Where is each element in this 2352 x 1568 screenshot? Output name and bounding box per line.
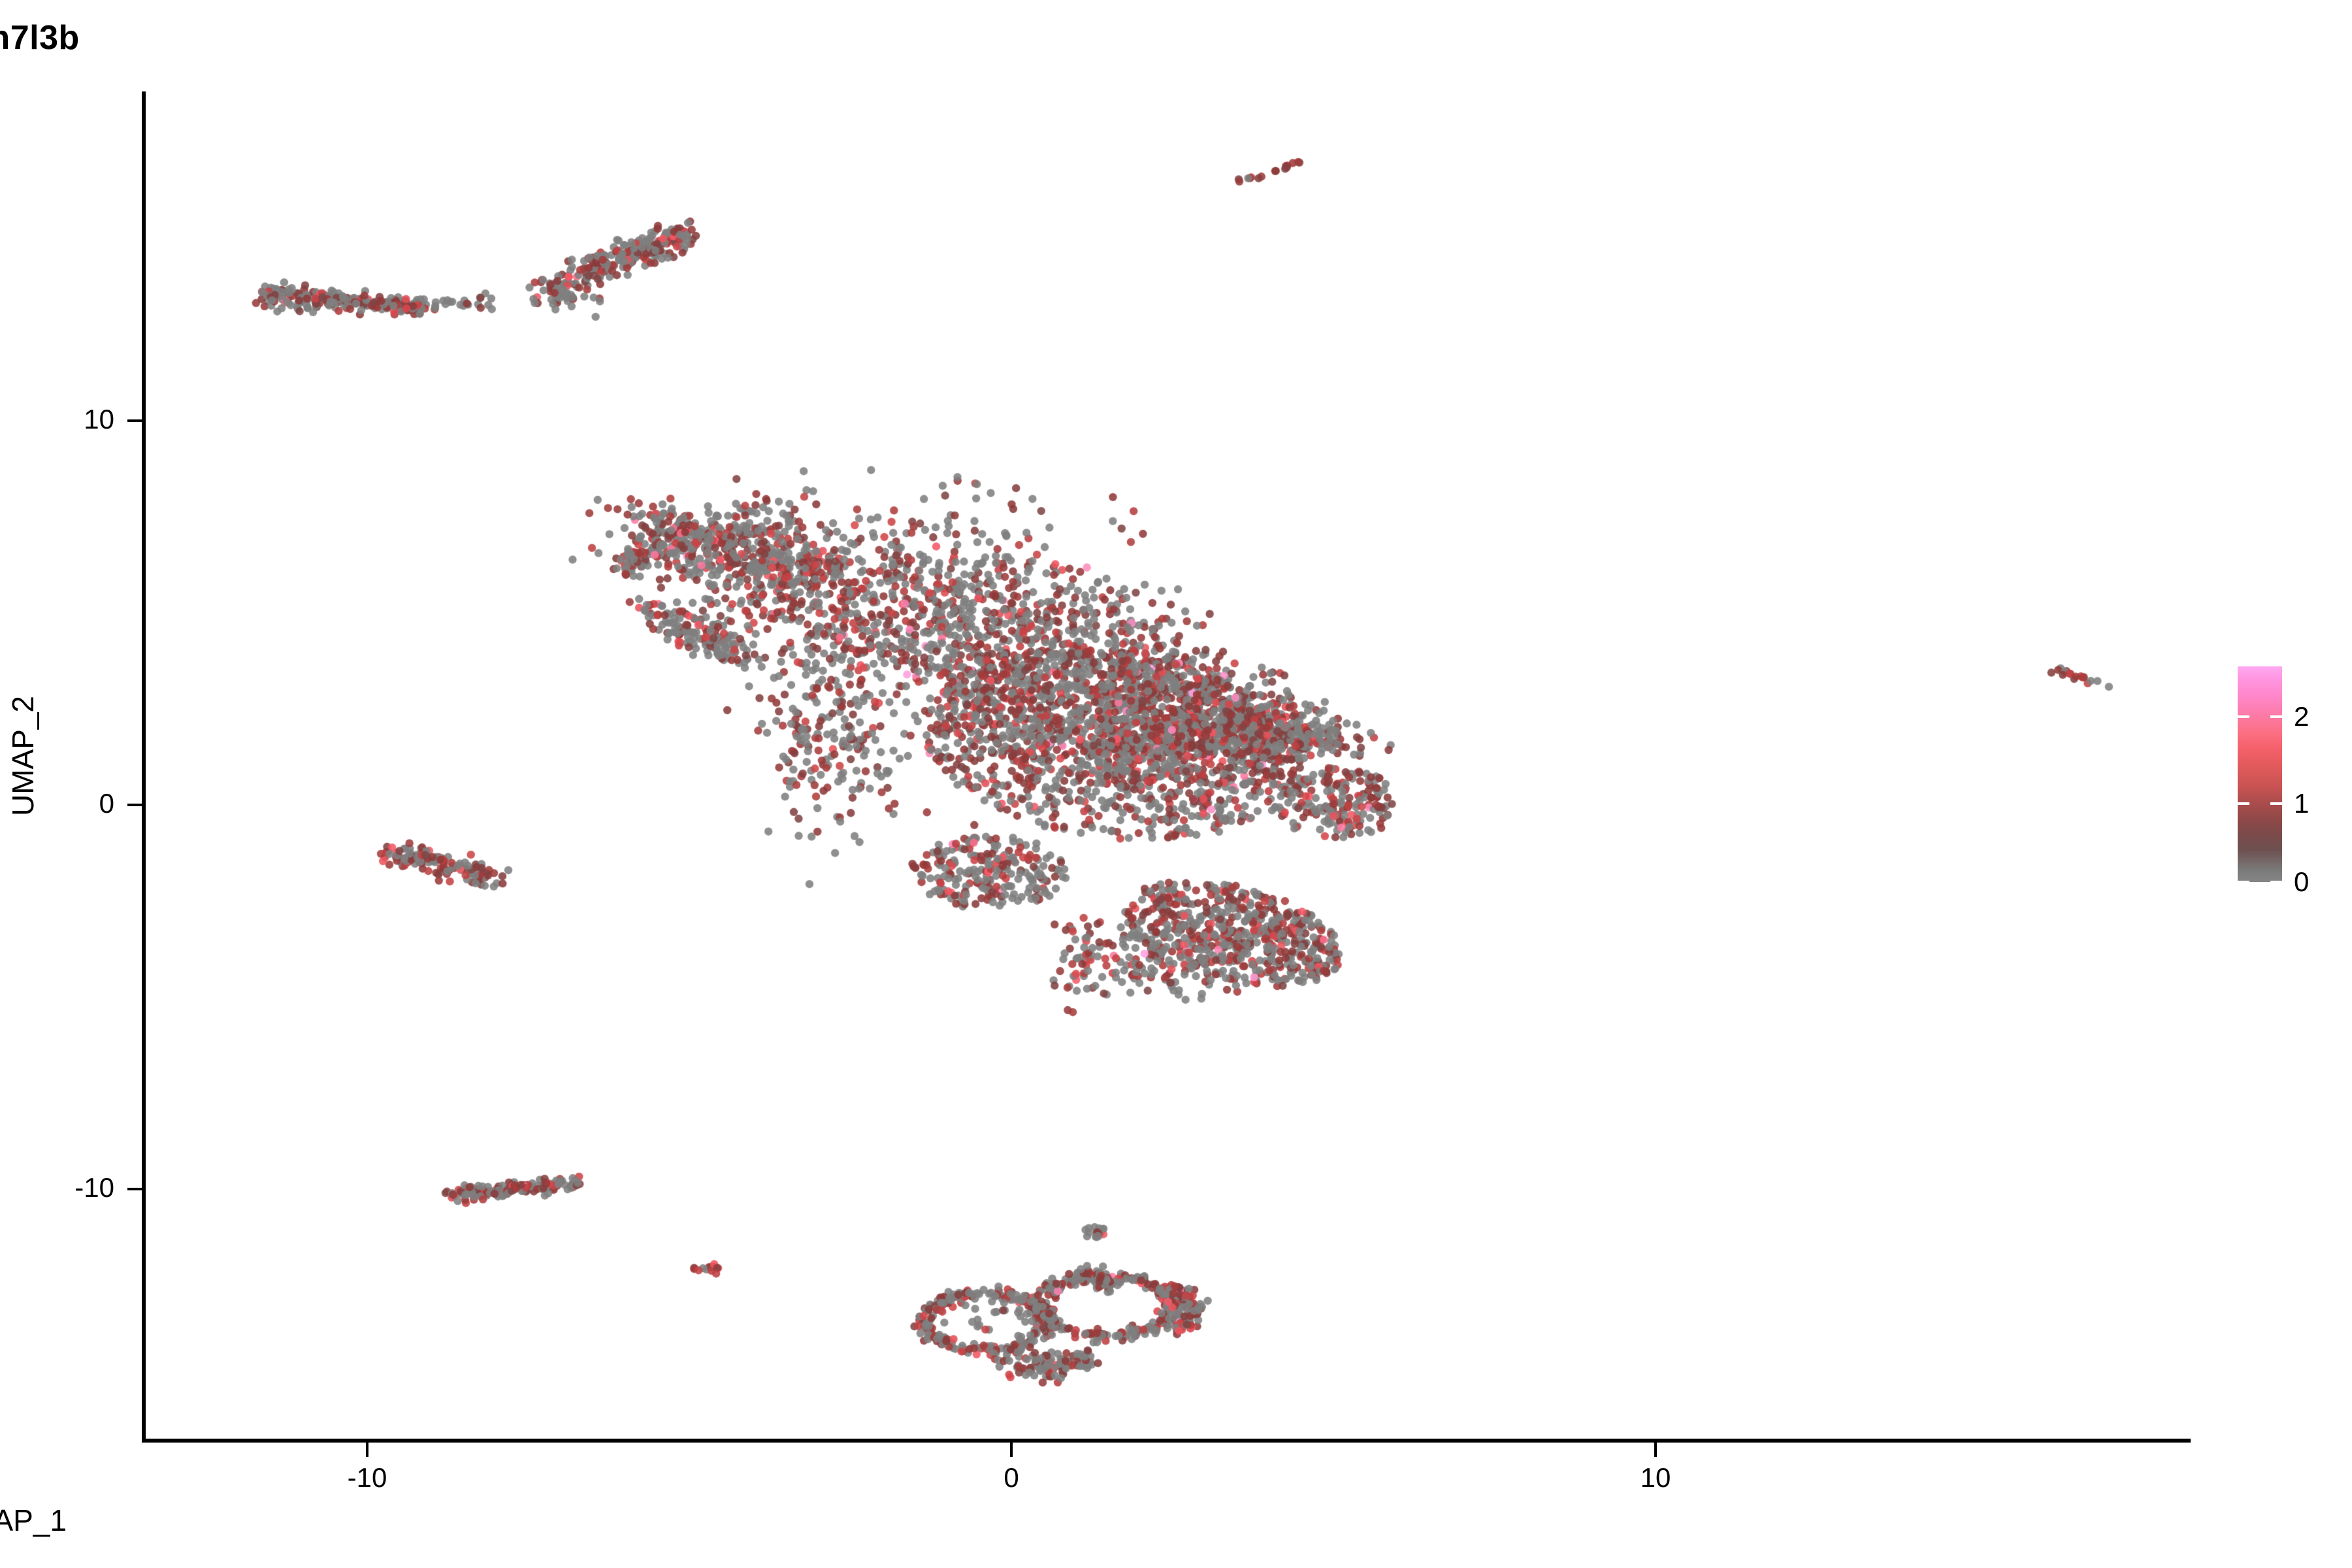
colorbar-tick-2-right bbox=[2270, 715, 2282, 718]
y-tick-mark-2 bbox=[127, 419, 142, 422]
x-tick-label-2: 10 bbox=[1590, 1462, 1721, 1494]
y-tick-mark-0 bbox=[127, 1188, 142, 1190]
x-axis-label: UMAP_1 bbox=[0, 1503, 1183, 1538]
y-axis-label: UMAP_2 bbox=[5, 429, 41, 1083]
x-axis-line bbox=[142, 1439, 2191, 1443]
x-tick-mark-0 bbox=[366, 1443, 368, 1457]
colorbar-label-2: 2 bbox=[2294, 701, 2309, 732]
colorbar-label-0: 0 bbox=[2294, 866, 2309, 898]
page-title: Atxn7l3b bbox=[0, 18, 1183, 57]
colorbar-tick-1-left bbox=[2238, 802, 2249, 805]
colorbar-tick-2-left bbox=[2238, 715, 2249, 718]
colorbar-tick-1-right bbox=[2270, 802, 2282, 805]
x-tick-label-0: -10 bbox=[302, 1462, 433, 1494]
y-tick-label-0: -10 bbox=[0, 1172, 114, 1203]
y-axis-line bbox=[142, 91, 146, 1443]
scatter-points-layer bbox=[144, 91, 2189, 1441]
y-tick-mark-1 bbox=[127, 804, 142, 806]
plot-panel bbox=[144, 91, 2189, 1441]
x-tick-mark-2 bbox=[1654, 1443, 1657, 1457]
colorbar-tick-0-right bbox=[2270, 881, 2282, 883]
colorbar-gradient bbox=[2238, 666, 2282, 882]
colorbar-tick-0-left bbox=[2238, 881, 2249, 883]
colorbar-label-1: 1 bbox=[2294, 788, 2309, 819]
umap-feature-plot: Atxn7l3b -10 0 10 10 0 -10 UMAP_1 UMAP_2… bbox=[0, 0, 2352, 1568]
x-tick-label-1: 0 bbox=[946, 1462, 1077, 1494]
x-tick-mark-1 bbox=[1010, 1443, 1013, 1457]
